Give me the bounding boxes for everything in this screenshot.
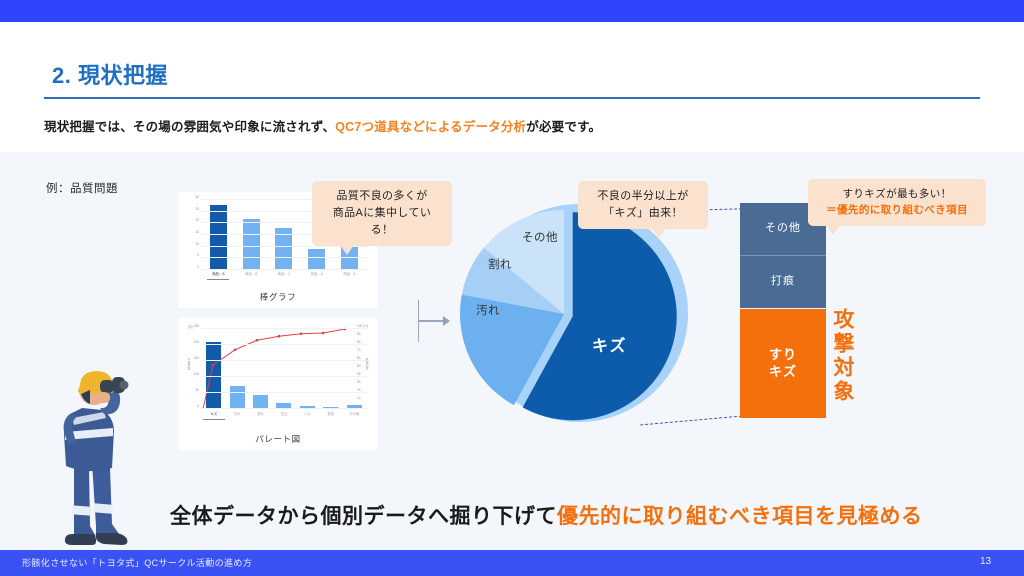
- pareto-chart-card: (件) (%) 不良件数 累積比率 050100150200250 010203…: [178, 318, 378, 450]
- bar-chart-y-tick: 0: [197, 265, 199, 269]
- bar-chart-x-labels: 商品：A商品：B商品：C商品：D商品：E: [202, 271, 366, 280]
- slide: 2. 現状把握 現状把握では、その場の雰囲気や印象に流されず、QC7つ道具などに…: [0, 0, 1024, 576]
- attack-target-label: 攻撃対象: [832, 308, 853, 404]
- bar-chart-bar: [243, 219, 260, 270]
- stacked-segment-dakon: 打痕: [740, 256, 826, 308]
- bar-chart-y-tick: 15: [195, 230, 199, 234]
- pareto-chart-plot: (件) (%) 不良件数 累積比率 050100150200250 010203…: [188, 326, 368, 421]
- callout-stacked-bar: すりキズが最も多い！ ＝優先的に取り組むべき項目: [808, 179, 986, 226]
- pareto-gridline: [201, 408, 368, 409]
- bar-chart-x-tick: 商品：C: [273, 271, 295, 280]
- callout-bar-chart: 品質不良の多くが 商品Aに集中している！: [312, 181, 452, 246]
- bar-chart-caption: 棒グラフ: [178, 291, 378, 303]
- callout-bar-chart-line2: 商品Aに集中している！: [322, 205, 442, 239]
- top-accent-bar: [0, 0, 1024, 22]
- pareto-x-tick: 汚れ: [226, 411, 248, 420]
- pareto-cumulative-line: [188, 326, 368, 421]
- callout-stacked-bar-line2: ＝優先的に取り組むべき項目: [818, 202, 976, 218]
- summary-text: 全体データから個別データへ掘り下げて優先的に取り組むべき項目を見極める: [170, 500, 923, 530]
- callout-pie-chart-line1: 不良の半分以上が: [588, 188, 698, 205]
- stacked-bar-chart: その他 打痕 すり キズ: [740, 203, 826, 418]
- worker-illustration: [34, 358, 154, 550]
- subtitle-accent-text: QC7つ道具などによるデータ分析: [335, 120, 526, 134]
- callout-stacked-bar-line1: すりキズが最も多い！: [818, 186, 976, 202]
- bar-chart-gridline: [201, 257, 368, 258]
- bar-chart-y-axis: 051015202530: [188, 200, 200, 280]
- pareto-gridline: [201, 392, 368, 393]
- callout-pie-chart: 不良の半分以上が 「キズ」由来！: [578, 181, 708, 229]
- stacked-segment-divider: [740, 255, 826, 256]
- pareto-gridline: [201, 376, 368, 377]
- page-number: 13: [980, 556, 991, 567]
- subtitle-text-1: 現状把握では、その場の雰囲気や印象に流されず、: [44, 120, 335, 134]
- stacked-segment-surikizu: すり キズ: [740, 309, 826, 418]
- title-underline: [44, 97, 980, 99]
- bar-chart-x-tick: 商品：D: [306, 271, 328, 280]
- example-label: 例：品質問題: [46, 180, 118, 196]
- callout-pie-chart-line2: 「キズ」由来！: [588, 205, 698, 222]
- stacked-segment-surikizu-line1: すり: [769, 347, 797, 362]
- bar-chart-y-tick: 10: [195, 242, 199, 246]
- bar-chart-bar: [308, 249, 325, 270]
- subtitle: 現状把握では、その場の雰囲気や印象に流されず、QC7つ道具などによるデータ分析が…: [44, 116, 601, 135]
- bar-chart-x-tick: 商品：A: [207, 271, 229, 280]
- pareto-gridline: [201, 328, 368, 329]
- subtitle-text-2: が必要です。: [526, 120, 601, 134]
- pareto-x-tick: バリ: [296, 411, 318, 420]
- page-title: 2. 現状把握: [52, 58, 168, 90]
- pie-slice-label-sonota: その他: [522, 229, 558, 245]
- pareto-gridline: [201, 344, 368, 345]
- flow-arrow-shaft: [419, 320, 445, 322]
- bar-chart-y-tick: 25: [195, 207, 199, 211]
- pie-slice-label-kizu: キズ: [592, 332, 627, 356]
- pareto-gridline: [201, 360, 368, 361]
- bar-chart-y-tick: 5: [197, 253, 199, 257]
- pareto-x-labels: キズ汚れ割れ凹凸バリ変形その他: [202, 411, 366, 420]
- pareto-x-tick: 凹凸: [273, 411, 295, 420]
- arrow-right-icon: [443, 316, 450, 326]
- footer-source-text: 形骸化させない「トヨタ式」QCサークル活動の進め方: [22, 556, 252, 569]
- callout-bar-chart-line1: 品質不良の多くが: [322, 188, 442, 205]
- pareto-x-tick: キズ: [203, 411, 225, 420]
- bar-chart-bar: [210, 205, 227, 270]
- pareto-x-tick: 割れ: [250, 411, 272, 420]
- summary-text-plain: 全体データから個別データへ掘り下げて: [170, 505, 557, 528]
- bar-chart-x-tick: 商品：B: [240, 271, 262, 280]
- bar-chart-y-tick: 20: [195, 218, 199, 222]
- pareto-x-tick: その他: [343, 411, 365, 420]
- pareto-chart-caption: パレート図: [178, 433, 378, 445]
- pareto-x-tick: 変形: [320, 411, 342, 420]
- summary-text-accent: 優先的に取り組むべき項目を見極める: [557, 505, 923, 528]
- bar-chart-x-tick: 商品：E: [339, 271, 361, 280]
- stacked-segment-surikizu-line2: キズ: [769, 364, 797, 379]
- bar-chart-gridline: [201, 269, 368, 270]
- bar-chart-y-tick: 30: [195, 195, 199, 199]
- pie-slice-label-yogore: 汚れ: [476, 302, 500, 318]
- pie-slice-label-ware: 割れ: [488, 256, 512, 272]
